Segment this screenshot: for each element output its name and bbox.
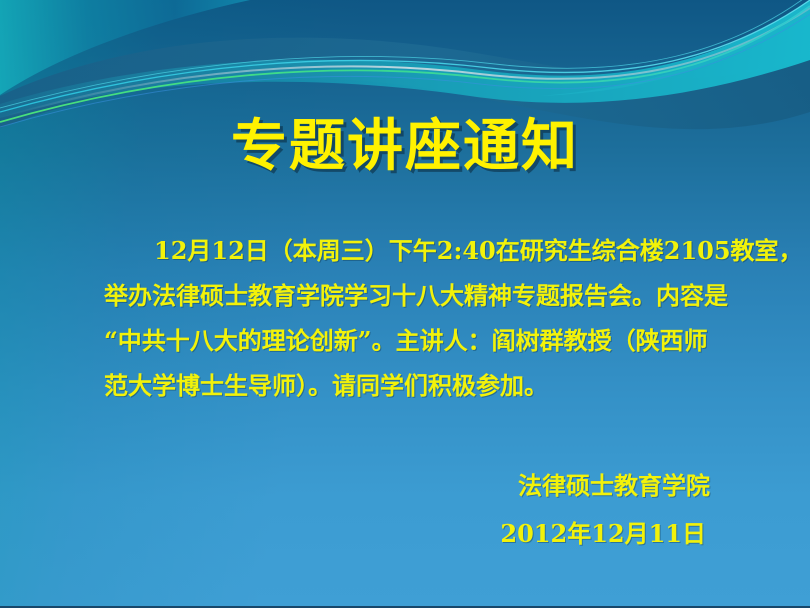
body-line-4: 范大学博士生导师）。请同学们积极参加。: [104, 363, 710, 408]
body-line-3: “中共十八大的理论创新”。主讲人：阎树群教授（陕西师: [104, 318, 710, 363]
body-line-2: 举办法律硕士教育学院学习十八大精神专题报告会。内容是: [104, 273, 710, 318]
signature-organization: 法律硕士教育学院: [0, 462, 710, 510]
slide-body: 12月12日（本周三）下午2:40在研究生综合楼2105教室， 举办法律硕士教育…: [104, 228, 710, 408]
presentation-slide: 专题讲座通知 12月12日（本周三）下午2:40在研究生综合楼2105教室， 举…: [0, 0, 810, 608]
slide-title: 专题讲座通知: [0, 116, 810, 178]
slide-signature: 法律硕士教育学院 2012年12月11日: [0, 462, 810, 558]
signature-date: 2012年12月11日: [0, 510, 710, 558]
body-line-1: 12月12日（本周三）下午2:40在研究生综合楼2105教室，: [104, 228, 710, 273]
